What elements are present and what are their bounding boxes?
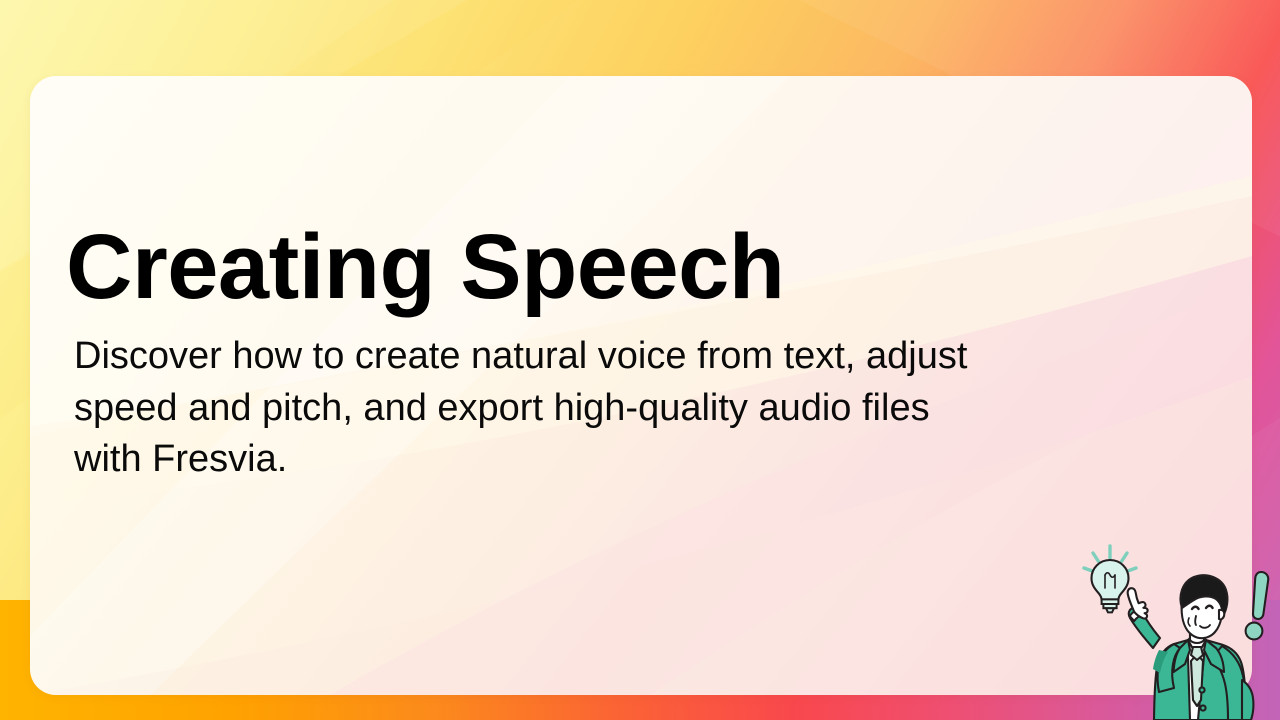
page-title: Creating Speech [66,221,1026,313]
slide-root: Creating Speech Discover how to create n… [0,0,1280,720]
content-card: Creating Speech Discover how to create n… [30,76,1252,695]
slide-subtitle: Discover how to create natural voice fro… [74,331,974,486]
slide-text-block: Creating Speech Discover how to create n… [66,221,1026,486]
